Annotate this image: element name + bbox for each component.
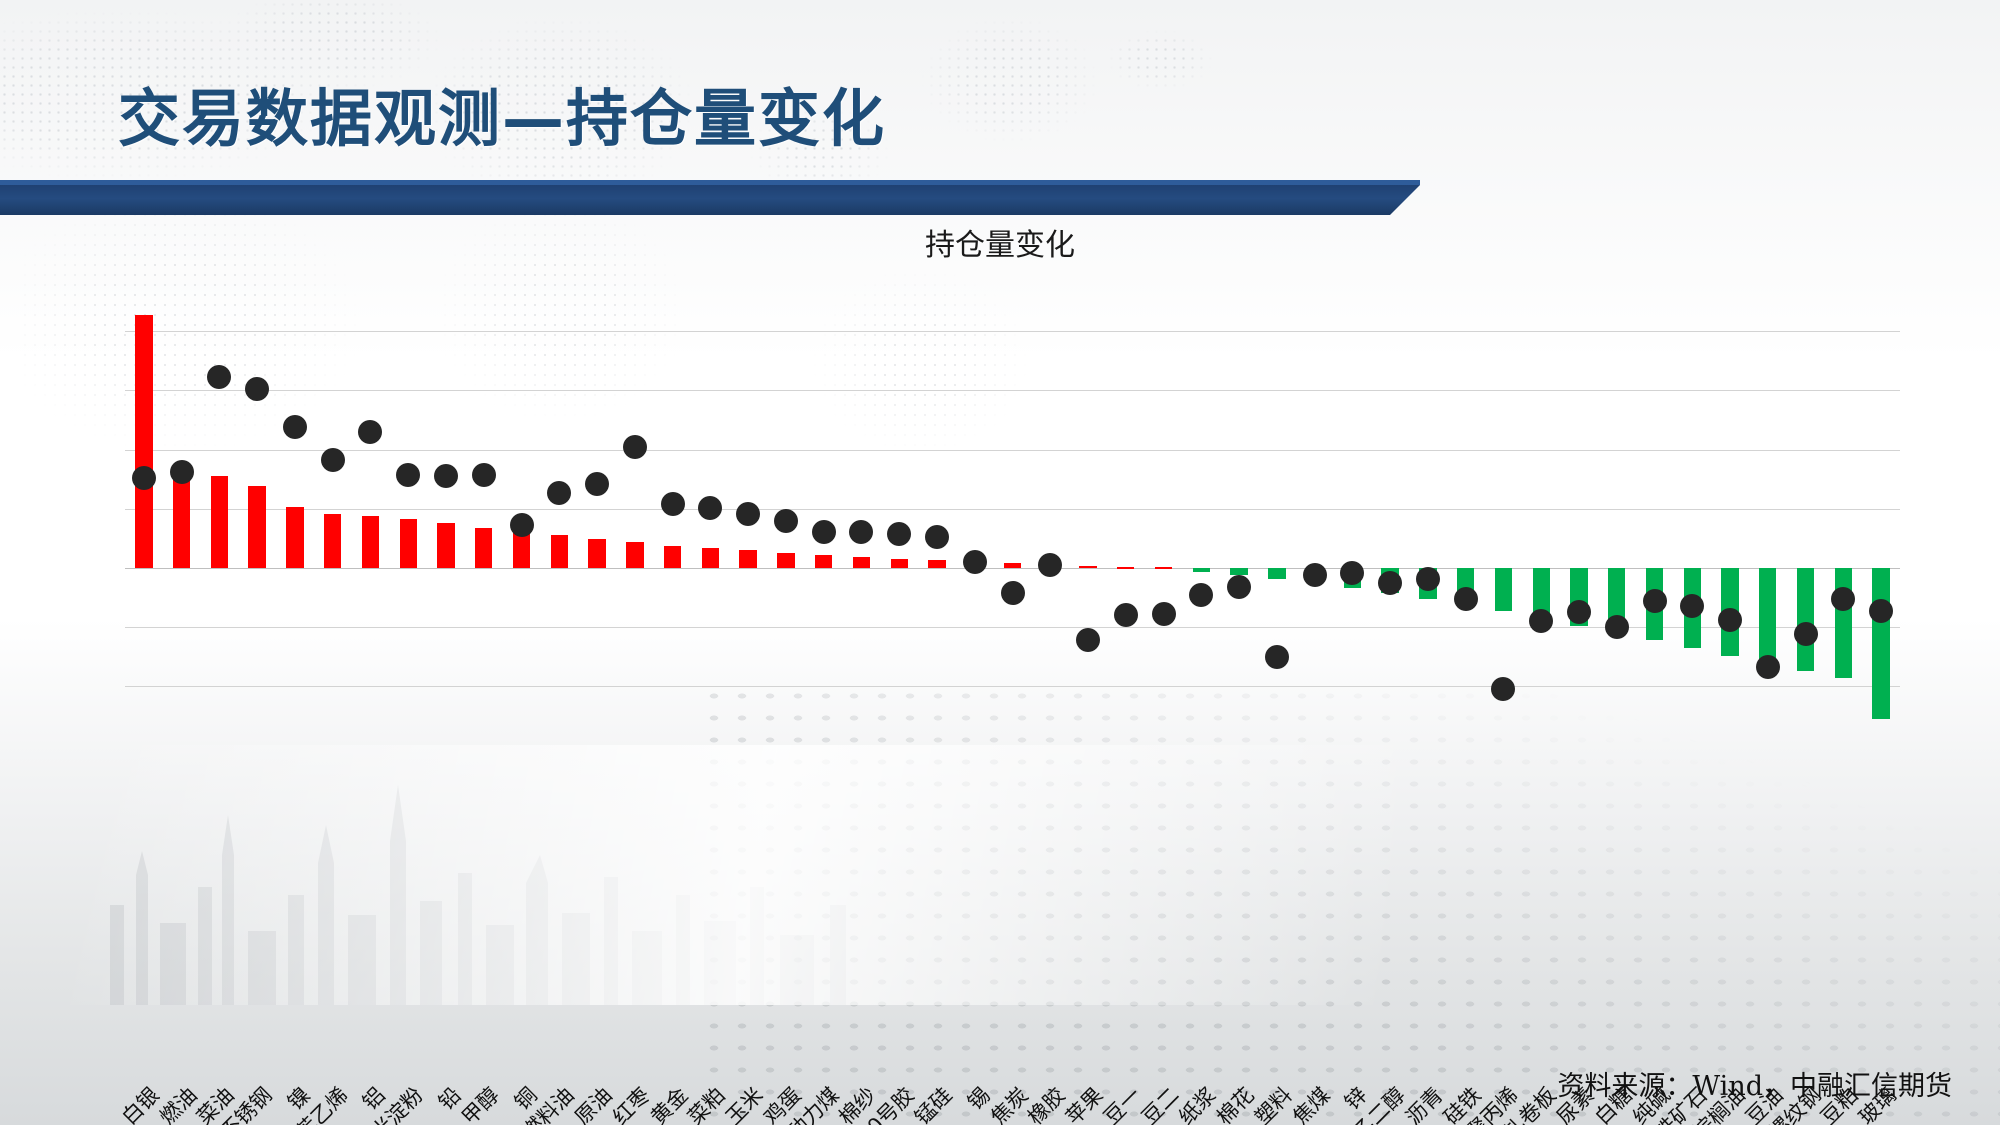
scatter-marker xyxy=(1605,615,1629,639)
scatter-marker xyxy=(132,466,156,490)
scatter-marker xyxy=(774,509,798,533)
plot-area xyxy=(125,272,1900,864)
scatter-marker xyxy=(1869,599,1893,623)
title-band: 交易数据观测—持仓量变化 xyxy=(0,30,1430,170)
scatter-marker xyxy=(1491,677,1515,701)
scatter-marker xyxy=(358,420,382,444)
scatter-marker xyxy=(396,463,420,487)
scatter-marker xyxy=(812,520,836,544)
scatter-marker xyxy=(1454,587,1478,611)
scatter-marker xyxy=(925,525,949,549)
bar-positive xyxy=(1117,567,1134,569)
scatter-marker xyxy=(1265,645,1289,669)
bar-positive xyxy=(815,555,832,568)
bar-positive xyxy=(739,550,756,568)
scatter-marker xyxy=(661,492,685,516)
bar-negative xyxy=(1835,568,1852,678)
bar-positive xyxy=(362,516,379,568)
page-title: 交易数据观测—持仓量变化 xyxy=(118,68,886,158)
bar-negative xyxy=(1872,568,1889,719)
scatter-marker xyxy=(1643,589,1667,613)
scatter-marker xyxy=(510,513,534,537)
bar-positive xyxy=(664,546,681,568)
scatter-marker xyxy=(1152,602,1176,626)
bar-positive xyxy=(588,539,605,568)
chart-container: 持仓量变化 白银燃油菜油不锈钢镍苯乙烯铝玉米淀粉铅甲醇铜低硫燃料油原油红枣黄金菜… xyxy=(0,210,2000,910)
scatter-marker xyxy=(736,502,760,526)
bar-positive xyxy=(1155,567,1172,569)
scatter-marker xyxy=(1794,622,1818,646)
gridline xyxy=(125,509,1900,510)
scatter-marker xyxy=(1831,587,1855,611)
bar-positive xyxy=(437,523,454,568)
scatter-marker xyxy=(321,448,345,472)
gridline xyxy=(125,390,1900,391)
bar-positive xyxy=(1079,566,1096,568)
bar-positive xyxy=(135,315,152,568)
bar-positive xyxy=(211,476,228,568)
scatter-marker xyxy=(1189,583,1213,607)
scatter-marker xyxy=(170,460,194,484)
scatter-marker xyxy=(245,377,269,401)
scatter-marker xyxy=(1340,561,1364,585)
bar-negative xyxy=(1797,568,1814,671)
gridline xyxy=(125,331,1900,332)
slide-canvas: 交易数据观测—持仓量变化 持仓量变化 白银燃油菜油不锈钢镍苯乙烯铝玉米淀粉铅甲醇… xyxy=(0,0,2000,1125)
scatter-marker xyxy=(1227,575,1251,599)
scatter-marker xyxy=(1076,628,1100,652)
scatter-marker xyxy=(547,481,571,505)
bar-positive xyxy=(891,559,908,568)
bar-positive xyxy=(400,519,417,568)
source-note: 资料来源：Wind，中融汇信期货 xyxy=(1557,1064,1952,1103)
scatter-marker xyxy=(1756,655,1780,679)
scatter-marker xyxy=(1001,581,1025,605)
bar-positive xyxy=(853,557,870,568)
gridline xyxy=(125,686,1900,687)
bar-positive xyxy=(475,528,492,568)
scatter-marker xyxy=(963,550,987,574)
bar-positive xyxy=(173,472,190,568)
scatter-marker xyxy=(1303,563,1327,587)
scatter-marker xyxy=(434,464,458,488)
bar-positive xyxy=(324,514,341,568)
bar-positive xyxy=(1004,563,1021,568)
scatter-marker xyxy=(283,415,307,439)
scatter-marker xyxy=(207,365,231,389)
title-rule xyxy=(0,180,1420,185)
bar-positive xyxy=(777,553,794,568)
bar-positive xyxy=(551,535,568,568)
bar-positive xyxy=(626,542,643,568)
bar-positive xyxy=(286,507,303,568)
bar-negative xyxy=(1193,568,1210,572)
bar-negative xyxy=(1759,568,1776,664)
scatter-marker xyxy=(623,435,647,459)
bar-negative xyxy=(1495,568,1512,611)
bar-negative xyxy=(1268,568,1285,579)
chart-title: 持仓量变化 xyxy=(0,220,2000,264)
scatter-marker xyxy=(1378,571,1402,595)
gridline xyxy=(125,627,1900,628)
scatter-marker xyxy=(887,522,911,546)
scatter-marker xyxy=(472,463,496,487)
scatter-marker xyxy=(1114,603,1138,627)
bar-positive xyxy=(702,548,719,568)
gridline xyxy=(125,450,1900,451)
scatter-marker xyxy=(1718,608,1742,632)
scatter-marker xyxy=(1416,567,1440,591)
scatter-marker xyxy=(585,472,609,496)
zero-baseline xyxy=(125,568,1900,569)
scatter-marker xyxy=(1038,553,1062,577)
bar-positive xyxy=(928,560,945,568)
bar-positive xyxy=(248,486,265,568)
scatter-marker xyxy=(698,496,722,520)
scatter-marker xyxy=(1529,609,1553,633)
scatter-marker xyxy=(849,520,873,544)
